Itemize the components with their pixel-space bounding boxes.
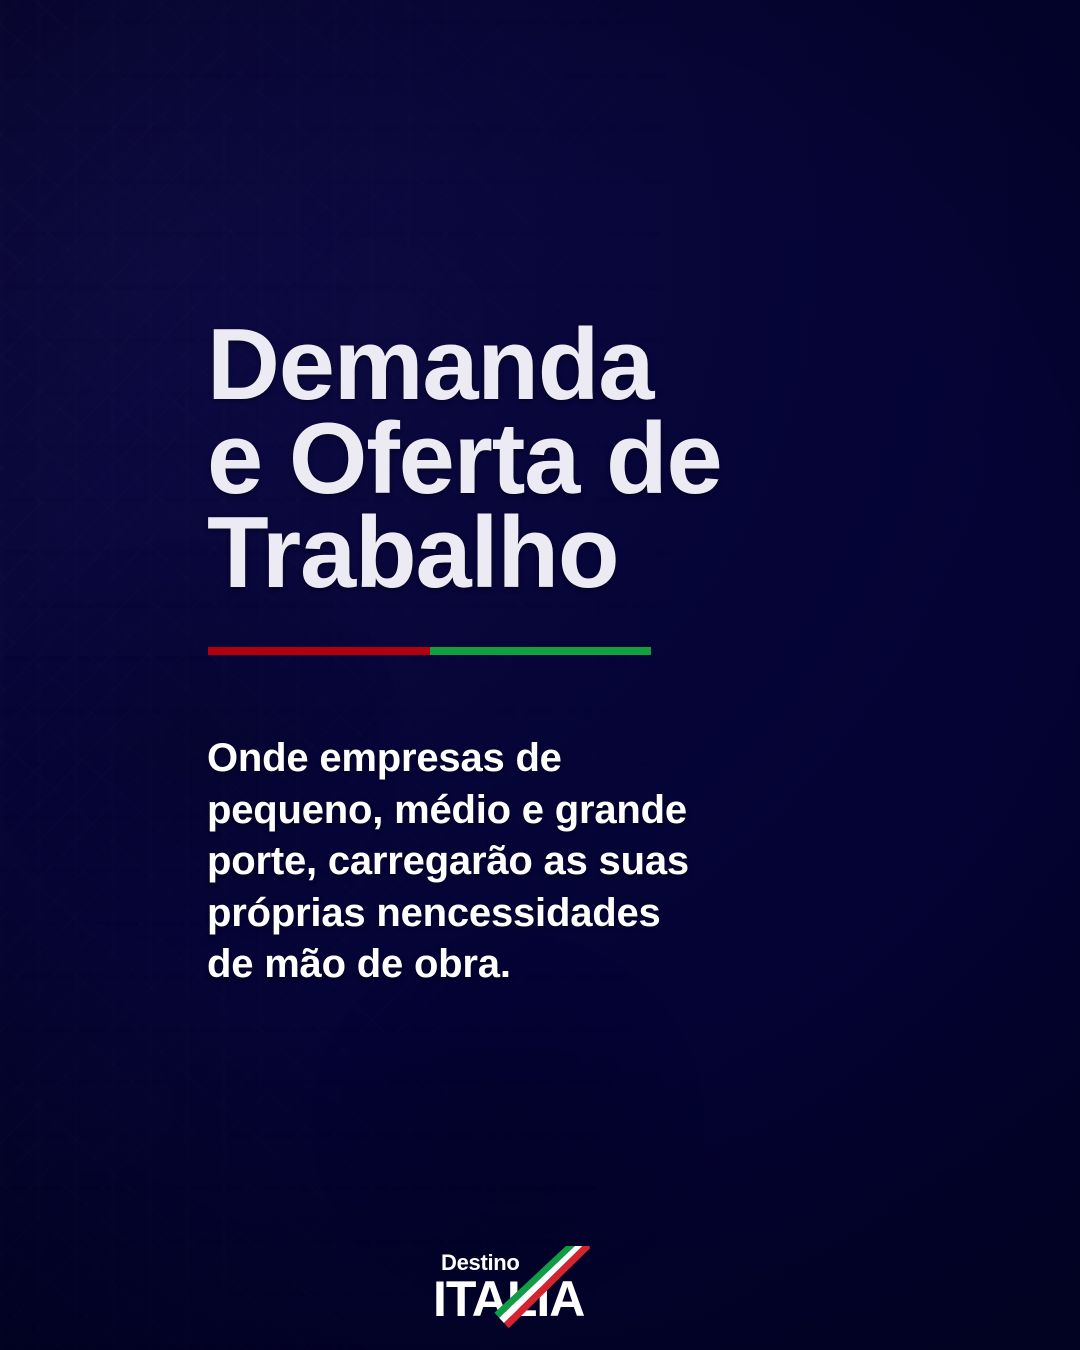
brand-logo: Destino ITALIA — [425, 1246, 655, 1328]
content-column: Demanda e Oferta de Trabalho Onde empres… — [207, 0, 1027, 1350]
flag-divider — [208, 647, 651, 655]
subtitle-text: Onde empresas de pequeno, médio e grande… — [207, 733, 737, 991]
divider-red-segment — [208, 647, 430, 655]
social-post-canvas: Demanda e Oferta de Trabalho Onde empres… — [0, 0, 1080, 1350]
page-title: Demanda e Oferta de Trabalho — [207, 318, 721, 600]
divider-green-segment — [430, 647, 652, 655]
